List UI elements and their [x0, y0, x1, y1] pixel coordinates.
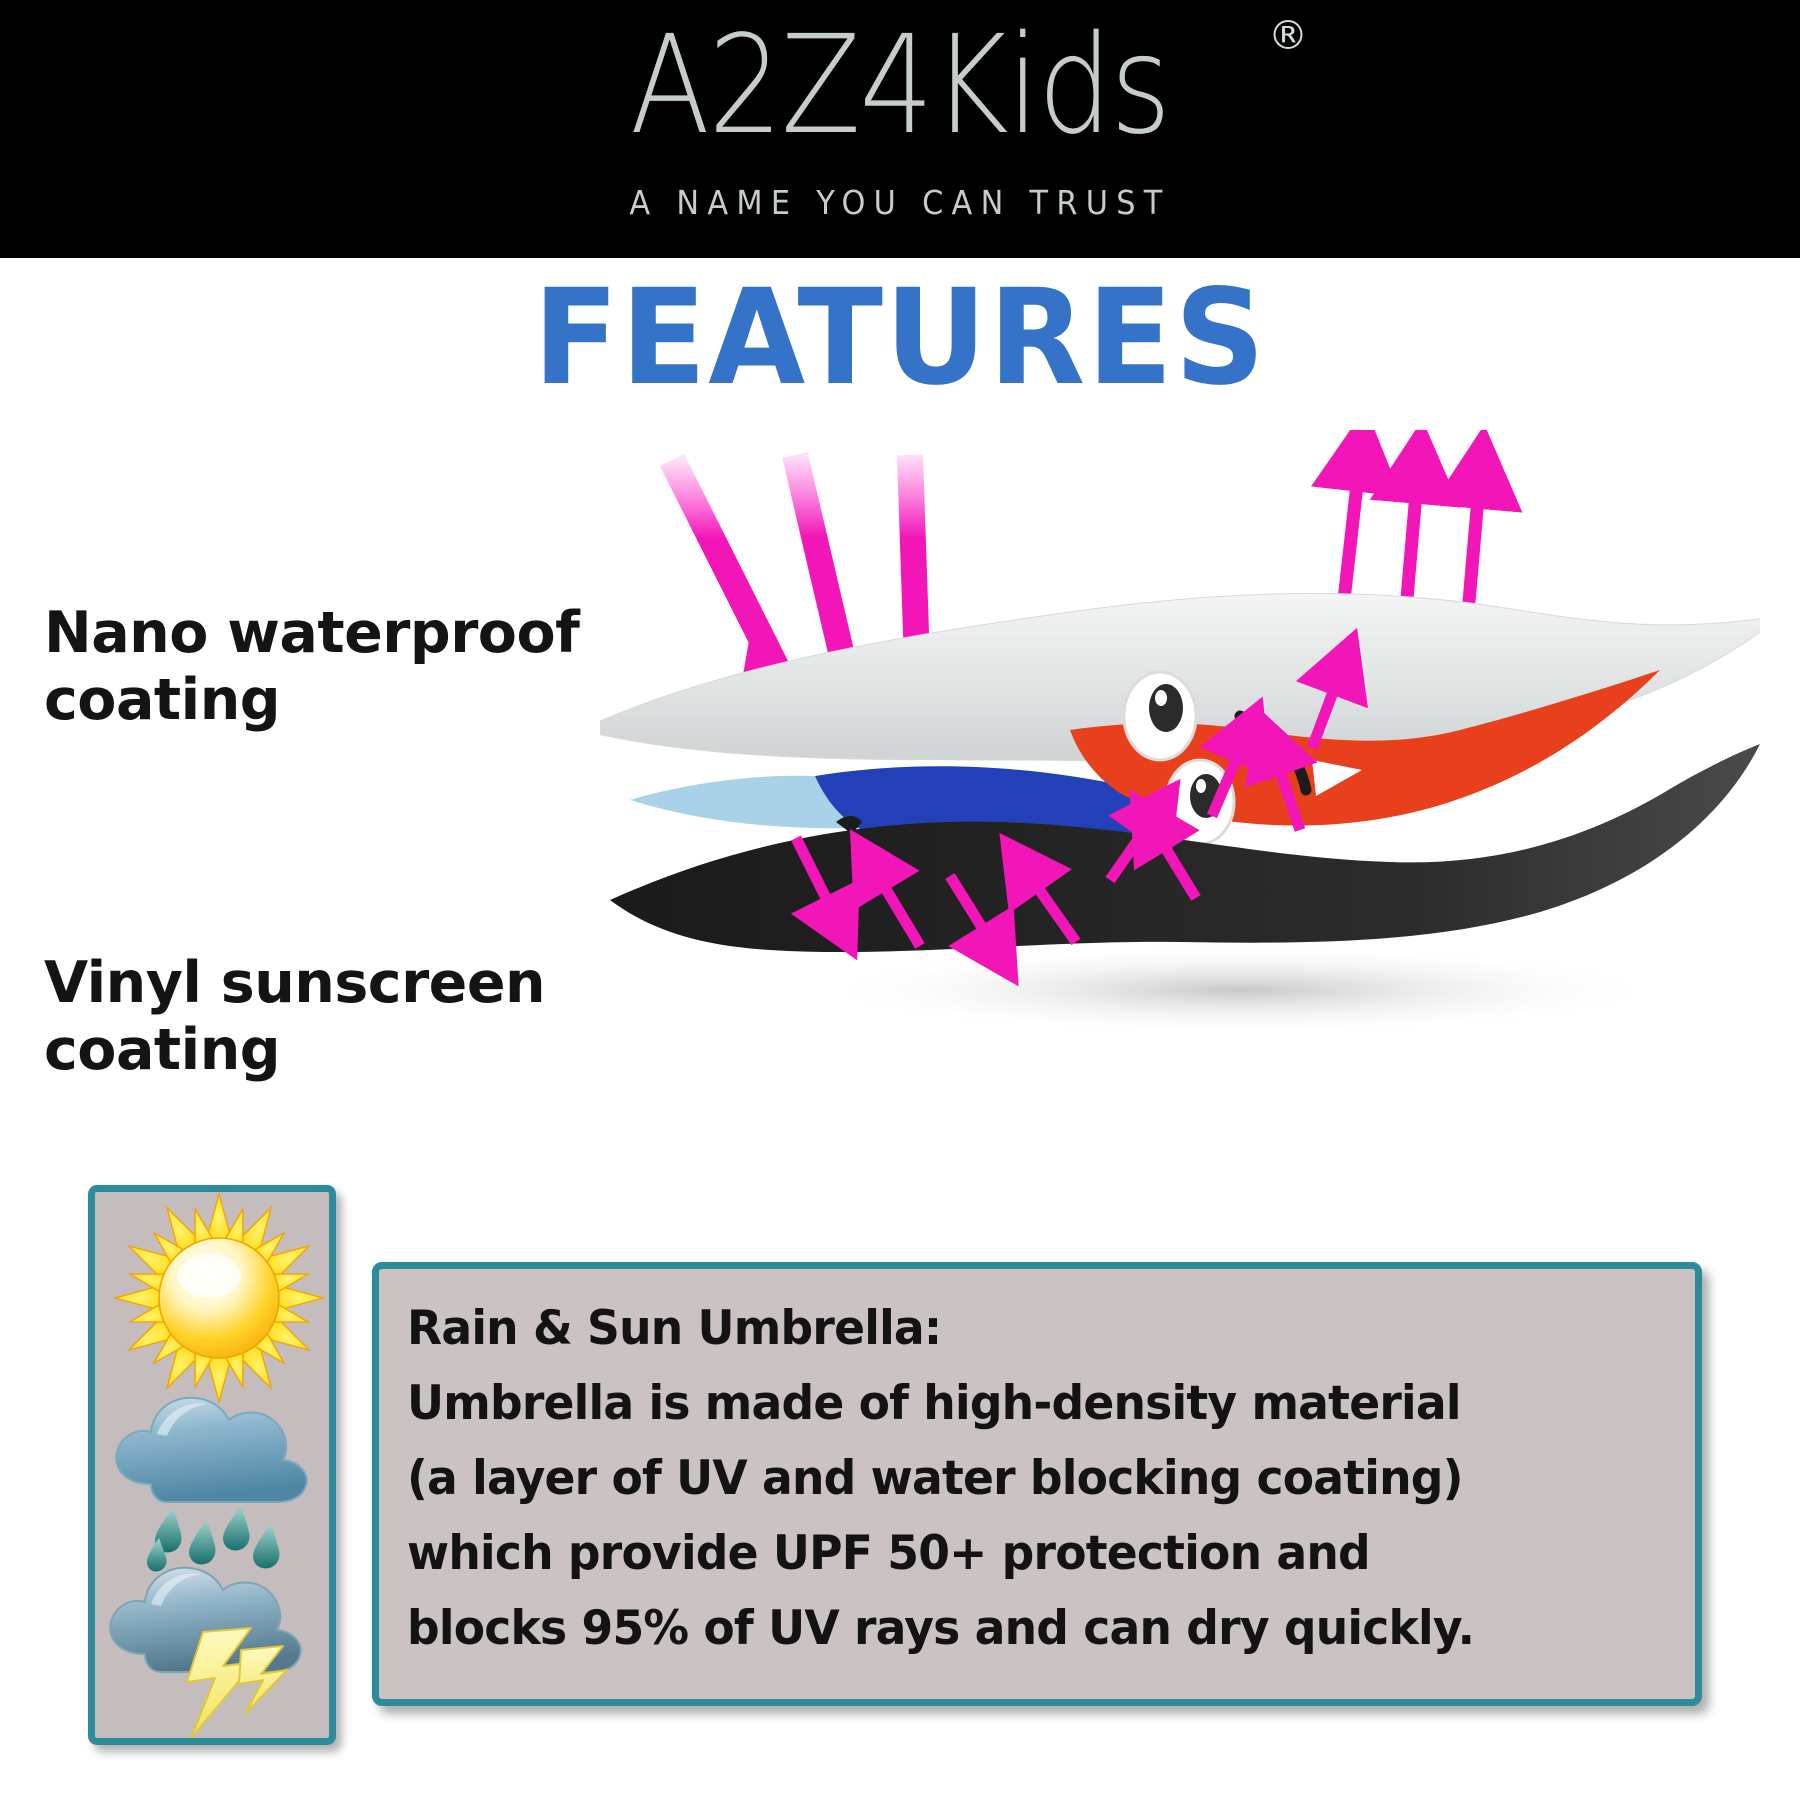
thunderstorm-cloud-icon	[95, 1562, 336, 1745]
brand-tagline: A NAME YOU CAN TRUST	[72, 186, 1728, 219]
rain-cloud-icon	[95, 1388, 336, 1578]
fabric-layers-diagram	[600, 430, 1760, 1050]
page-title: FEATURES	[45, 272, 1755, 404]
description-line-1: Umbrella is made of high-density materia…	[407, 1366, 1629, 1441]
cloud-shape	[116, 1398, 306, 1502]
weather-icon-panel	[88, 1185, 336, 1745]
sun-icon	[95, 1186, 336, 1406]
description-line-3: which provide UPF 50+ protection and	[407, 1516, 1629, 1591]
brand-name-text: A2Z4Kids	[630, 18, 1170, 154]
diagram-shadow	[810, 944, 1670, 1036]
description-line-2: (a layer of UV and water blocking coatin…	[407, 1441, 1629, 1516]
feature-label-nano-waterproof: Nano waterproof coating	[44, 600, 664, 734]
character-eye-upper	[1124, 672, 1196, 760]
brand-logo: A2Z4Kids	[0, 18, 1800, 154]
registered-trademark-icon: ®	[1268, 16, 1308, 56]
brand-header-bar: A2Z4Kids ® A NAME YOU CAN TRUST	[0, 0, 1800, 258]
description-heading: Rain & Sun Umbrella:	[407, 1291, 1629, 1366]
infographic-page: A2Z4Kids ® A NAME YOU CAN TRUST FEATURES…	[0, 0, 1800, 1800]
description-line-4: blocks 95% of UV rays and can dry quickl…	[407, 1591, 1629, 1666]
description-box: Rain & Sun Umbrella: Umbrella is made of…	[372, 1262, 1702, 1706]
feature-label-vinyl-sunscreen: Vinyl sunscreen coating	[44, 950, 664, 1084]
